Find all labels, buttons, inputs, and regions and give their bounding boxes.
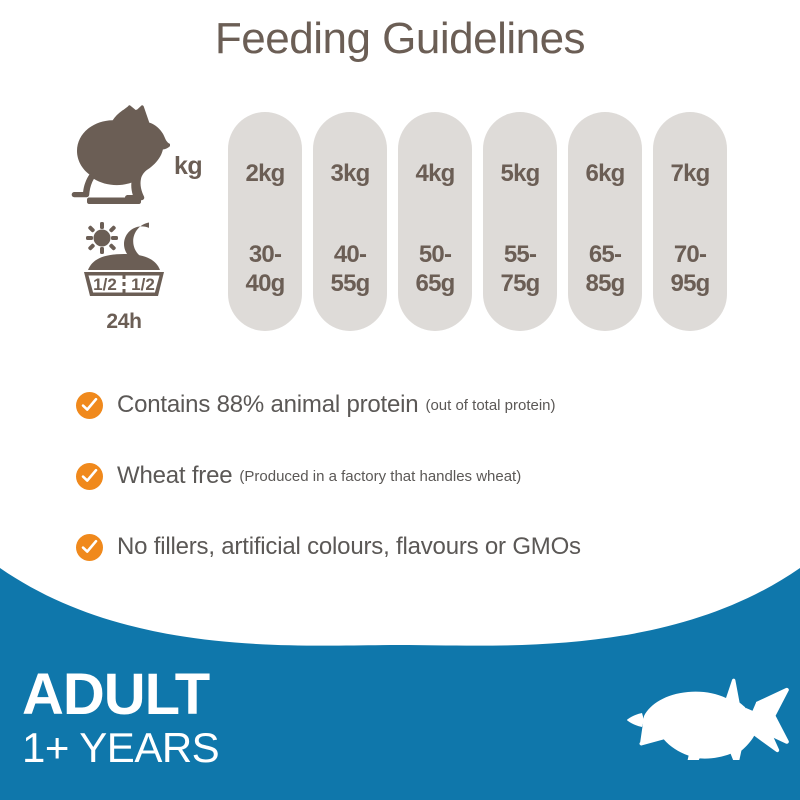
amount-line-2: 55g bbox=[331, 270, 370, 297]
feeding-column-3kg: 3kg 40- 55g bbox=[313, 112, 387, 331]
column-weight-label: 5kg bbox=[483, 160, 557, 188]
feeding-column-7kg: 7kg 70- 95g bbox=[653, 112, 727, 331]
life-stage-text-block: ADULT 1+ YEARS bbox=[22, 669, 219, 771]
column-amount-label: 30- 40g bbox=[228, 240, 302, 298]
claim-item: Contains 88% animal protein (out of tota… bbox=[76, 383, 776, 427]
column-weight-label: 3kg bbox=[313, 160, 387, 188]
period-label: 24h bbox=[72, 310, 176, 334]
check-circle-icon bbox=[76, 463, 103, 490]
amount-line-2: 95g bbox=[671, 270, 710, 297]
column-weight-label: 4kg bbox=[398, 160, 472, 188]
night-portion-text: 1/2 bbox=[131, 275, 155, 294]
sitting-cat-icon bbox=[70, 102, 170, 206]
weight-unit-label: kg bbox=[174, 152, 202, 181]
amount-line-1: 65- bbox=[589, 241, 621, 268]
amount-line-2: 40g bbox=[246, 270, 285, 297]
amount-line-2: 65g bbox=[416, 270, 455, 297]
feeding-pill-row: 2kg 30- 40g 3kg 40- 55g 4kg 50- 65g bbox=[228, 112, 783, 331]
column-amount-label: 40- 55g bbox=[313, 240, 387, 298]
column-amount-label: 55- 75g bbox=[483, 240, 557, 298]
check-circle-icon bbox=[76, 392, 103, 419]
age-range-label: 1+ YEARS bbox=[22, 725, 219, 771]
claim-text: Wheat free bbox=[117, 462, 232, 490]
amount-line-2: 85g bbox=[586, 270, 625, 297]
daily-ration-legend: 1/2 1/2 24h bbox=[72, 222, 190, 340]
tuna-fish-icon bbox=[618, 672, 790, 760]
column-weight-label: 7kg bbox=[653, 160, 727, 188]
life-stage-label: ADULT bbox=[22, 669, 219, 721]
amount-line-1: 50- bbox=[419, 241, 451, 268]
day-portion-text: 1/2 bbox=[93, 275, 117, 294]
column-amount-label: 50- 65g bbox=[398, 240, 472, 298]
amount-line-1: 30- bbox=[249, 241, 281, 268]
claim-note: (Produced in a factory that handles whea… bbox=[239, 468, 521, 485]
feeding-column-2kg: 2kg 30- 40g bbox=[228, 112, 302, 331]
life-stage-footer: ADULT 1+ YEARS bbox=[0, 555, 800, 800]
column-amount-label: 65- 85g bbox=[568, 240, 642, 298]
cat-weight-legend: kg bbox=[62, 102, 212, 207]
amount-line-1: 70- bbox=[674, 241, 706, 268]
amount-line-1: 40- bbox=[334, 241, 366, 268]
feeding-legend-column: kg bbox=[62, 100, 212, 340]
sun-icon bbox=[86, 222, 118, 254]
column-amount-label: 70- 95g bbox=[653, 240, 727, 298]
food-bowl-icon: 1/2 1/2 bbox=[84, 254, 164, 296]
amount-line-1: 55- bbox=[504, 241, 536, 268]
claim-item: Wheat free (Produced in a factory that h… bbox=[76, 454, 776, 498]
feeding-column-5kg: 5kg 55- 75g bbox=[483, 112, 557, 331]
amount-line-2: 75g bbox=[501, 270, 540, 297]
feeding-column-6kg: 6kg 65- 85g bbox=[568, 112, 642, 331]
column-weight-label: 2kg bbox=[228, 160, 302, 188]
column-weight-label: 6kg bbox=[568, 160, 642, 188]
feeding-table: kg bbox=[0, 100, 800, 345]
feeding-guidelines-panel: Feeding Guidelines kg bbox=[0, 0, 800, 800]
claim-text: Contains 88% animal protein bbox=[117, 391, 418, 419]
claim-note: (out of total protein) bbox=[425, 397, 555, 414]
day-night-bowl-icon: 1/2 1/2 bbox=[72, 222, 176, 306]
feeding-column-4kg: 4kg 50- 65g bbox=[398, 112, 472, 331]
page-title: Feeding Guidelines bbox=[0, 14, 800, 64]
